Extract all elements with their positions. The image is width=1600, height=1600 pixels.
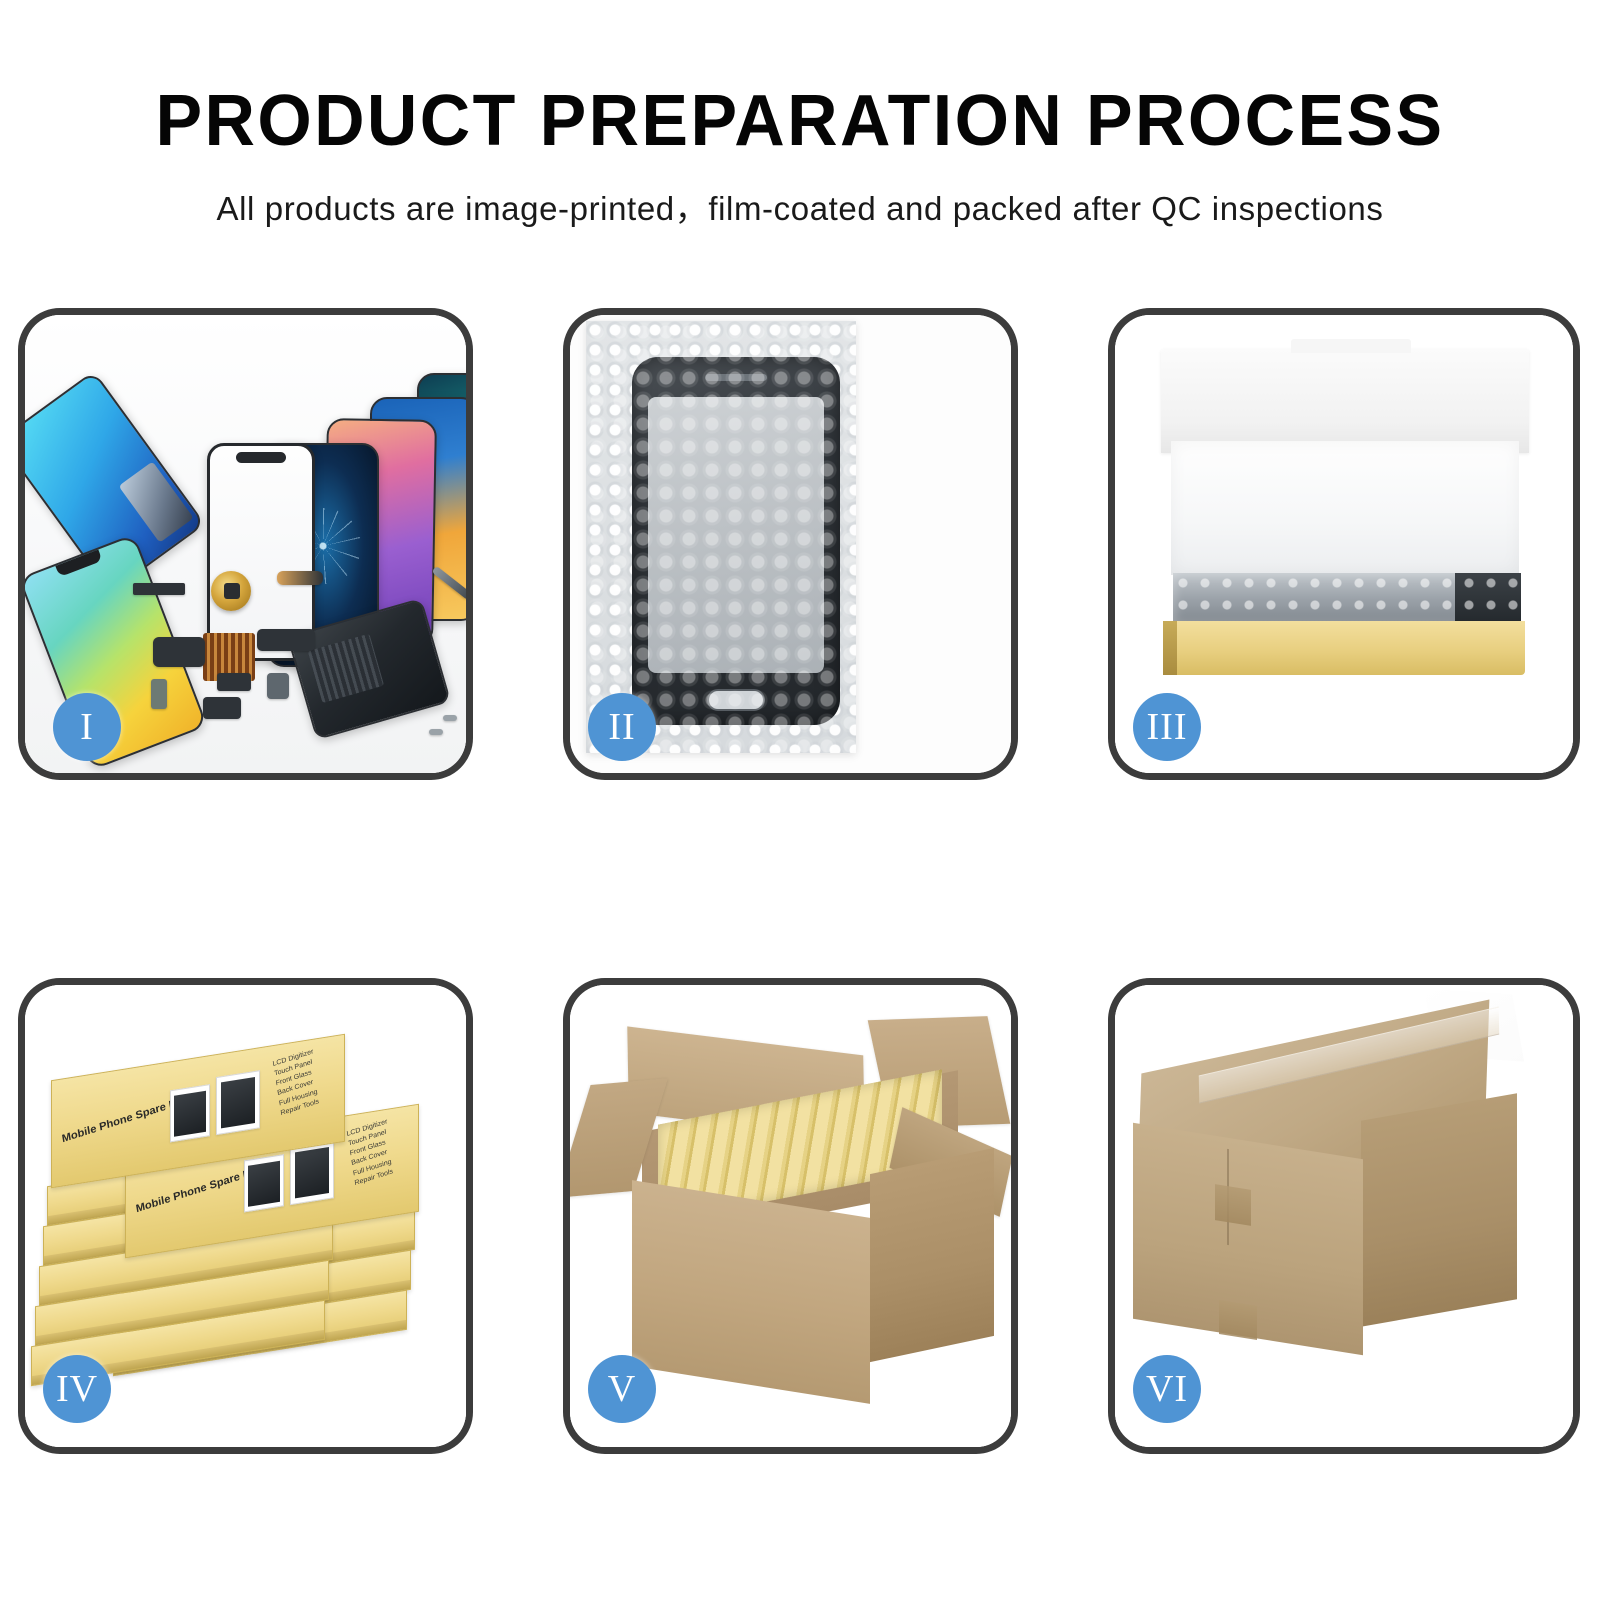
- flex-cable-icon-2: [153, 637, 205, 667]
- flex-cable-icon-3: [257, 629, 315, 651]
- process-step-card-3: III: [1108, 308, 1580, 780]
- sim-tray-icon: [151, 679, 167, 709]
- screw-icon-1: [443, 715, 457, 721]
- process-step-grid: I II: [0, 0, 1600, 1600]
- process-step-card-2: II: [563, 308, 1018, 780]
- foam-insert-icon: [1171, 441, 1519, 575]
- flex-cable-icon-1: [277, 571, 323, 585]
- retail-box-thumbnail: [244, 1154, 284, 1212]
- mailer-base-icon: [1163, 621, 1525, 675]
- carton-tab-lower: [1219, 1300, 1257, 1340]
- process-step-card-4: Mobile Phone Spare Parts LCD Digitizer T…: [18, 978, 473, 1454]
- digitizer-panel-icon: [632, 357, 840, 725]
- camera-module-icon: [267, 673, 289, 699]
- mailer-lid-icon: [1161, 349, 1529, 453]
- retail-box-checklist: LCD Digitizer Touch Panel Front Glass Ba…: [272, 1047, 322, 1118]
- carton-side-panel: [1361, 1093, 1517, 1327]
- wrapped-screen-icon: [1173, 573, 1521, 625]
- retail-box-thumbnail: [170, 1084, 210, 1142]
- speaker-part-icon: [133, 583, 185, 595]
- carton-side-panel: [870, 1148, 994, 1362]
- earpiece-slot-icon: [705, 374, 767, 381]
- product-preparation-infographic: PRODUCT PREPARATION PROCESS All products…: [0, 0, 1600, 1600]
- screen-surface: [648, 397, 824, 673]
- step-badge-3: III: [1133, 693, 1201, 761]
- battery-connector-icon: [217, 673, 251, 691]
- process-step-card-5: V: [563, 978, 1018, 1454]
- carton-tab-upper: [1215, 1184, 1251, 1226]
- step-badge-2: II: [588, 693, 656, 761]
- home-button-icon: [707, 689, 765, 711]
- retail-box-checklist: LCD Digitizer Touch Panel Front Glass Ba…: [346, 1117, 396, 1188]
- retail-box-thumbnail: [290, 1140, 334, 1205]
- wireless-coil-icon: [211, 571, 251, 611]
- step-badge-6: VI: [1133, 1355, 1201, 1423]
- process-step-card-6: VI: [1108, 978, 1580, 1454]
- bubble-wrap-sheet-icon: [586, 321, 856, 753]
- step-badge-4: IV: [43, 1355, 111, 1423]
- vibrator-icon: [203, 697, 241, 719]
- step-badge-5: V: [588, 1355, 656, 1423]
- step-badge-1: I: [53, 693, 121, 761]
- screen-dark-end: [1455, 573, 1521, 625]
- process-step-card-1: I: [18, 308, 473, 780]
- retail-box-thumbnail: [216, 1070, 260, 1135]
- screw-icon-2: [429, 729, 443, 735]
- carton-front-panel: [632, 1180, 870, 1404]
